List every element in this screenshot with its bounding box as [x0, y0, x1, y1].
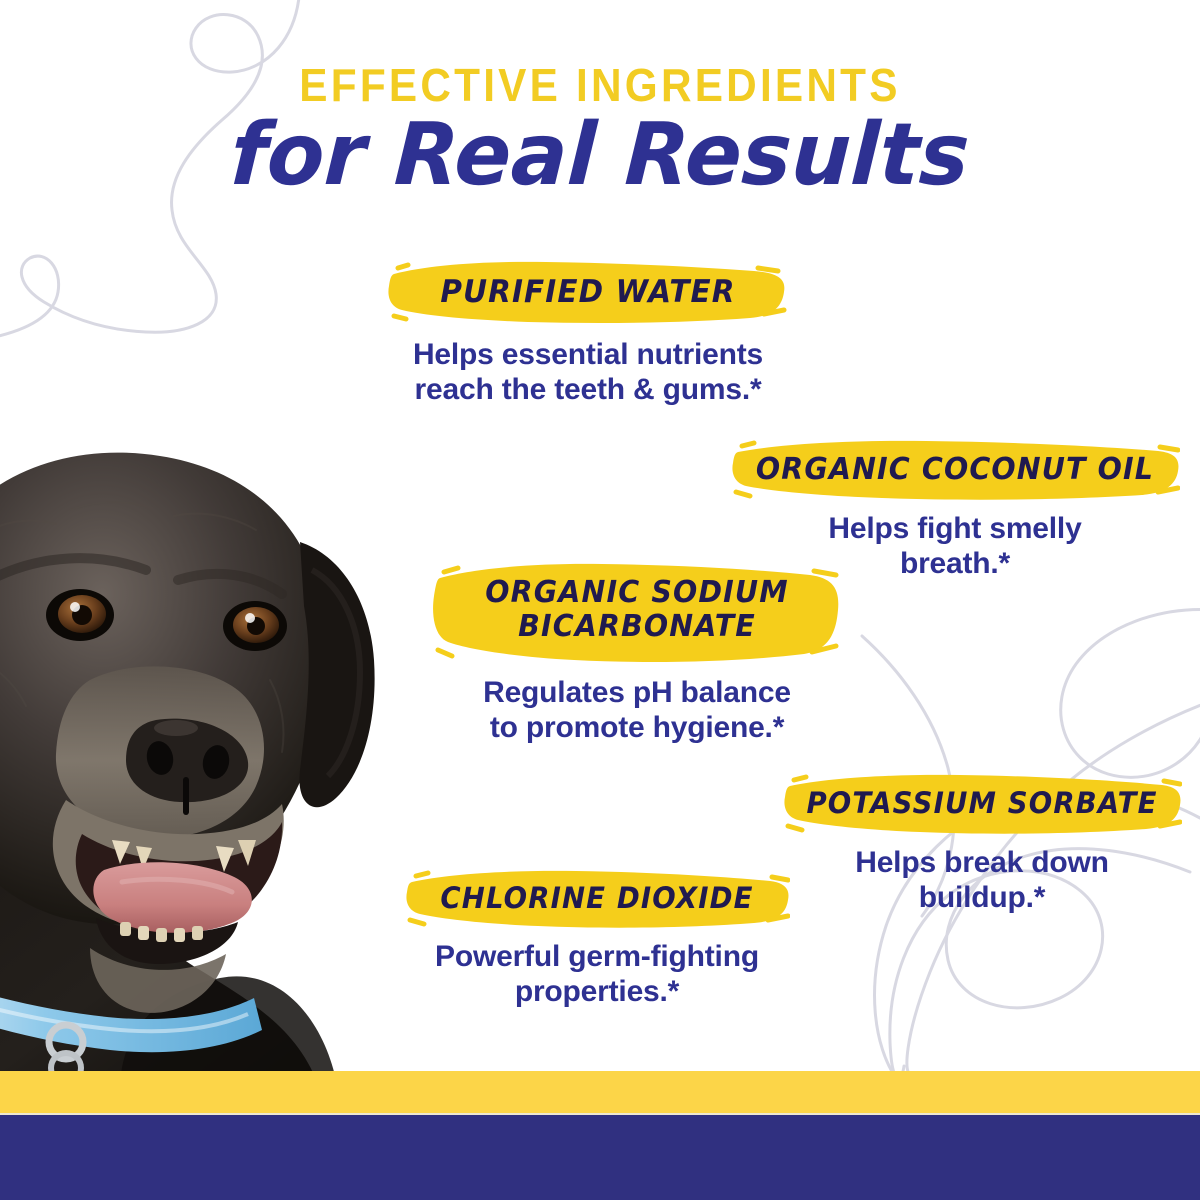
ingredient-banner: POTASSIUM SORBATE: [782, 772, 1182, 834]
ingredient-name: PURIFIED WATER: [398, 258, 778, 310]
infographic-canvas: EFFECTIVE INGREDIENTS for Real Results P…: [0, 0, 1200, 1200]
ingredient-chlorine-dioxide: CHLORINE DIOXIDE Powerful germ-fighting …: [404, 868, 790, 1010]
dog-photo: [0, 330, 440, 1090]
ingredient-banner: PURIFIED WATER: [388, 258, 788, 326]
ingredient-description: Helps essential nutrients reach the teet…: [388, 338, 788, 408]
ingredient-potassium-sorbate: POTASSIUM SORBATE Helps break down build…: [782, 772, 1182, 916]
ingredient-name: POTASSIUM SORBATE: [792, 772, 1172, 819]
ingredient-description: Powerful germ-fighting properties.*: [404, 940, 790, 1010]
page-title: for Real Results: [16, 112, 1184, 198]
ingredient-banner: ORGANIC SODIUM BICARBONATE: [432, 560, 842, 664]
ingredient-purified-water: PURIFIED WATER Helps essential nutrients…: [388, 258, 788, 408]
ingredient-sodium-bicarbonate: ORGANIC SODIUM BICARBONATE Regulates pH …: [432, 560, 842, 746]
navy-footer-band: [0, 1114, 1200, 1200]
ingredient-banner: CHLORINE DIOXIDE: [404, 868, 790, 928]
ingredient-name: ORGANIC COCONUT OIL: [741, 438, 1169, 487]
ingredient-description: Helps break down buildup.*: [782, 846, 1182, 916]
dog-right-eye: [223, 601, 287, 651]
ingredient-description: Regulates pH balance to promote hygiene.…: [432, 676, 842, 746]
footer-divider: [0, 1113, 1200, 1115]
dog-left-eye: [46, 589, 114, 641]
ingredient-banner: ORGANIC COCONUT OIL: [730, 438, 1180, 500]
yellow-footer-band: [0, 1071, 1200, 1113]
eyebrow-heading: EFFECTIVE INGREDIENTS: [48, 58, 1152, 112]
ingredient-name: CHLORINE DIOXIDE: [414, 868, 781, 914]
ingredient-name: ORGANIC SODIUM BICARBONATE: [442, 560, 832, 643]
